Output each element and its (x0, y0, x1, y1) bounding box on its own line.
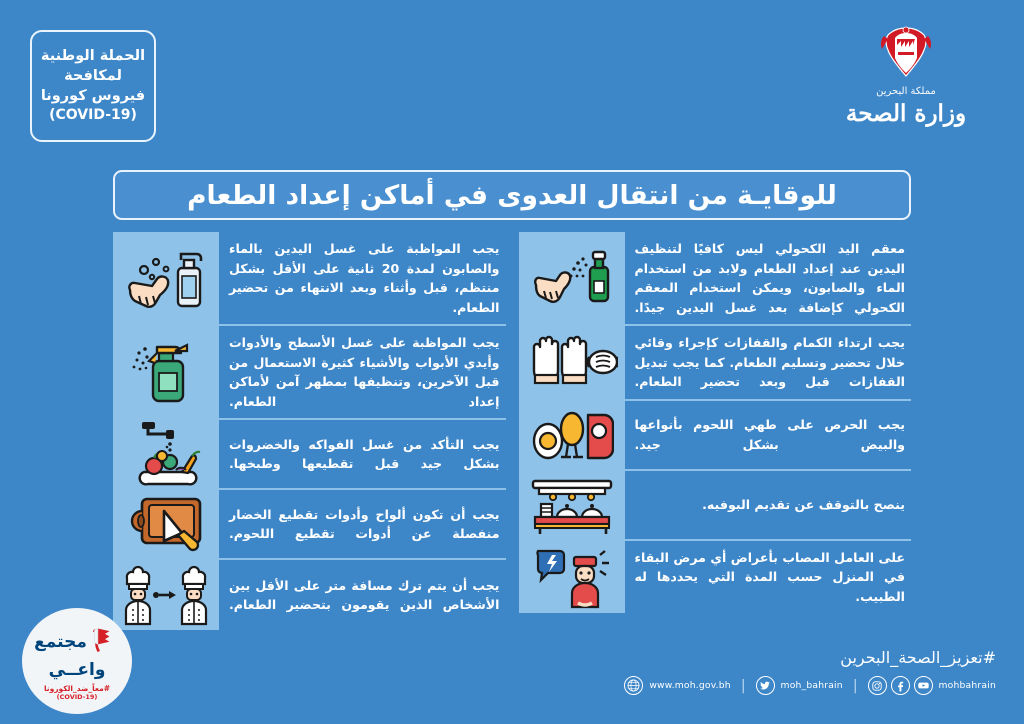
cutting-board-knife-icon (113, 490, 219, 558)
twitter-icon (756, 676, 775, 695)
campaign-line-4: (COVID-19) (49, 107, 137, 123)
youtube-icon[interactable] (914, 676, 933, 695)
aware-tagline: #معاً_ضد_الكورونا (44, 684, 110, 693)
washing-fruits-vegetables-icon (113, 420, 219, 488)
tip-text: يجب أن يتم ترك مسافة متر على الأقل بين ا… (219, 560, 506, 630)
sick-worker-stay-home-icon (519, 541, 625, 614)
tip-text: يجب المواظبة على غسل اليدين بالماء والصا… (219, 232, 506, 324)
tip-text: على العامل المصاب بأعراض أي مرض البقاء ف… (625, 541, 912, 614)
website-label: www.moh.gov.bh (649, 680, 730, 691)
buffet-table-icon (519, 471, 625, 539)
tip-text: يجب أن تكون ألواح وأدوات تقطيع الخضار من… (219, 490, 506, 558)
ministry-of-health-logo: مملكة البحرين وزارة الصحة (836, 24, 976, 144)
tips-column-left: معقم اليد الكحولي ليس كافيًا لتنظيف اليد… (519, 232, 912, 630)
tip-item: يجب المواظبة على غسل اليدين بالماء والصا… (113, 232, 506, 326)
tip-item: ينصح بالتوقف عن تقديم البوفيه. (519, 471, 912, 541)
tip-text: يجب المواظبة على غسل الأسطح والأدوات وأي… (219, 326, 506, 418)
campaign-badge: الحملة الوطنية لمكافحة فيروس كورونا (COV… (30, 30, 156, 142)
tip-text: يجب الحرص على طهي اللحوم بأنواعها والبيض… (625, 401, 912, 469)
bahrain-coat-of-arms-icon (876, 24, 936, 82)
campaign-line-2: لمكافحة (64, 68, 122, 85)
gloves-and-mask-icon (519, 326, 625, 399)
tip-item: على العامل المصاب بأعراض أي مرض البقاء ف… (519, 541, 912, 614)
infographic-poster: الحملة الوطنية لمكافحة فيروس كورونا (COV… (0, 0, 1024, 724)
twitter-label: moh_bahrain (781, 680, 843, 691)
page-title: للوقايـة من انتقال العدوى في أماكن إعداد… (187, 180, 837, 211)
footer-hashtag: #تعزيز_الصحة_البحرين (840, 648, 996, 667)
tip-item: معقم اليد الكحولي ليس كافيًا لتنظيف اليد… (519, 232, 912, 326)
tip-text: ينصح بالتوقف عن تقديم البوفيه. (625, 471, 912, 539)
tip-item: يجب ارتداء الكمام والقفازات كإجراء وقائي… (519, 326, 912, 401)
tip-item: يجب الحرص على طهي اللحوم بأنواعها والبيض… (519, 401, 912, 471)
aware-word-2: واعــي (49, 660, 106, 680)
social-handle-label: mohbahrain (939, 680, 996, 691)
tip-text: يجب التأكد من غسل الفواكه والخضروات بشكل… (219, 420, 506, 488)
hand-sanitizer-spray-icon (519, 232, 625, 324)
website-link[interactable]: www.moh.gov.bh (624, 676, 730, 695)
aware-community-logo: مجتمع واعــي #معاً_ضد_الكورونا (COVID-19… (22, 608, 132, 714)
instagram-icon[interactable] (868, 676, 887, 695)
bahrain-flag-icon (90, 625, 120, 659)
tip-item: يجب التأكد من غسل الفواكه والخضروات بشكل… (113, 420, 506, 490)
kingdom-label: مملكة البحرين (876, 86, 936, 97)
tips-grid: معقم اليد الكحولي ليس كافيًا لتنظيف اليد… (113, 232, 911, 630)
divider: | (853, 678, 858, 694)
social-bar: www.moh.gov.bh | moh_bahrain | (624, 676, 996, 695)
divider: | (741, 678, 746, 694)
hand-washing-soap-dispenser-icon (113, 232, 219, 324)
distance-arrow (153, 591, 176, 599)
campaign-line-3: فيروس كورونا (41, 88, 145, 105)
twitter-link[interactable]: moh_bahrain (756, 676, 843, 695)
aware-word-1: مجتمع (34, 634, 87, 651)
social-accounts[interactable]: mohbahrain (868, 676, 996, 695)
ministry-label: وزارة الصحة (846, 100, 966, 127)
cooked-meat-and-eggs-icon (519, 401, 625, 469)
spray-bottle-disinfectant-icon (113, 326, 219, 418)
tip-item: يجب أن يتم ترك مسافة متر على الأقل بين ا… (113, 560, 506, 630)
campaign-line-1: الحملة الوطنية (41, 48, 145, 65)
two-chefs-distance-icon (113, 560, 219, 630)
tip-item: يجب أن تكون ألواح وأدوات تقطيع الخضار من… (113, 490, 506, 560)
tips-column-right: يجب المواظبة على غسل اليدين بالماء والصا… (113, 232, 506, 630)
tip-item: يجب المواظبة على غسل الأسطح والأدوات وأي… (113, 326, 506, 420)
title-banner: للوقايـة من انتقال العدوى في أماكن إعداد… (113, 170, 911, 220)
tip-text: معقم اليد الكحولي ليس كافيًا لتنظيف اليد… (625, 232, 912, 324)
aware-tagline-covid: (COVID-19) (57, 693, 98, 701)
facebook-icon[interactable] (891, 676, 910, 695)
tip-text: يجب ارتداء الكمام والقفازات كإجراء وقائي… (625, 326, 912, 399)
globe-icon (624, 676, 643, 695)
